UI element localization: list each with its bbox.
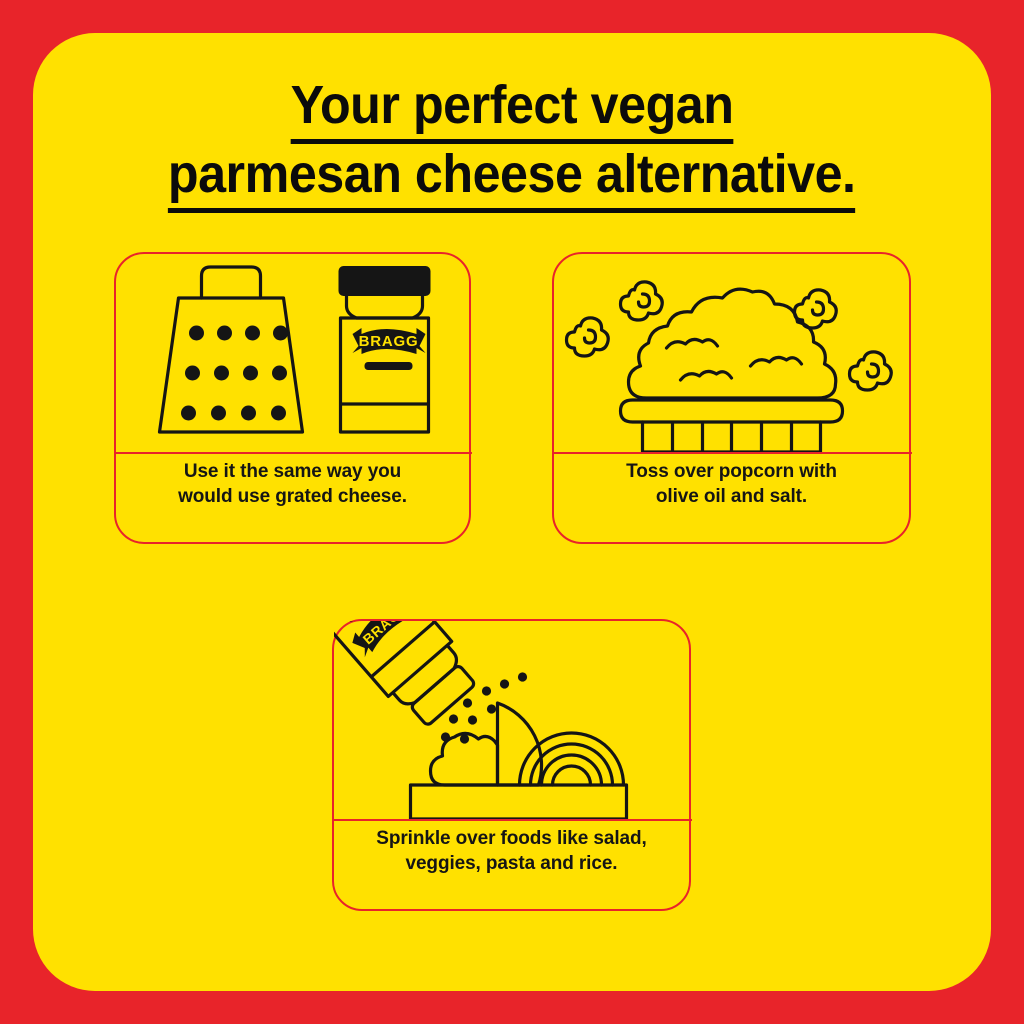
card-divider: [114, 452, 472, 454]
headline-line-1: Your perfect vegan: [33, 75, 991, 144]
popcorn-bucket-icon: [554, 254, 909, 452]
poster-root: Your perfect vegan parmesan cheese alter…: [0, 0, 1024, 1024]
usage-card-sprinkle: BRAGG: [332, 619, 691, 911]
caption-line-2: veggies, pasta and rice.: [342, 851, 681, 876]
sprinkle-dots: [441, 672, 527, 743]
card-divider: [552, 452, 912, 454]
kernel-top-left: [621, 282, 663, 320]
caption-line-2: would use grated cheese.: [124, 484, 461, 509]
bragg-shaker-bottle: BRAGG: [339, 266, 431, 432]
bragg-label-text: BRAGG: [359, 333, 419, 350]
popcorn-art: [554, 254, 909, 452]
page-title: Your perfect vegan parmesan cheese alter…: [33, 75, 991, 213]
kernel-right: [850, 352, 892, 390]
caption-line-1: Use it the same way you: [124, 459, 461, 484]
caption-line-1: Toss over popcorn with: [562, 459, 901, 484]
shaker-sprinkling-over-plate-icon: BRAGG: [334, 621, 689, 819]
usage-card-grater-shaker: BRAGG Use it the same way you would use …: [114, 252, 471, 544]
tilted-bragg-shaker: BRAGG: [334, 621, 484, 733]
card-divider: [332, 819, 692, 821]
usage-card-caption: Toss over popcorn with olive oil and sal…: [562, 459, 901, 509]
kernel-left: [567, 318, 609, 356]
grater-shaker-art: BRAGG: [116, 254, 469, 452]
headline-line-2: parmesan cheese alternative.: [33, 144, 991, 213]
bragg-label: BRAGG: [353, 328, 426, 354]
usage-card-popcorn: Toss over popcorn with olive oil and sal…: [552, 252, 911, 544]
caption-line-1: Sprinkle over foods like salad,: [342, 826, 681, 851]
caption-line-2: olive oil and salt.: [562, 484, 901, 509]
usage-card-caption: Use it the same way you would use grated…: [124, 459, 461, 509]
usage-card-caption: Sprinkle over foods like salad, veggies,…: [342, 826, 681, 876]
sprinkle-art: BRAGG: [334, 621, 689, 819]
grater-holes: [181, 326, 288, 421]
box-grater-and-bragg-shaker-icon: BRAGG: [116, 254, 469, 452]
